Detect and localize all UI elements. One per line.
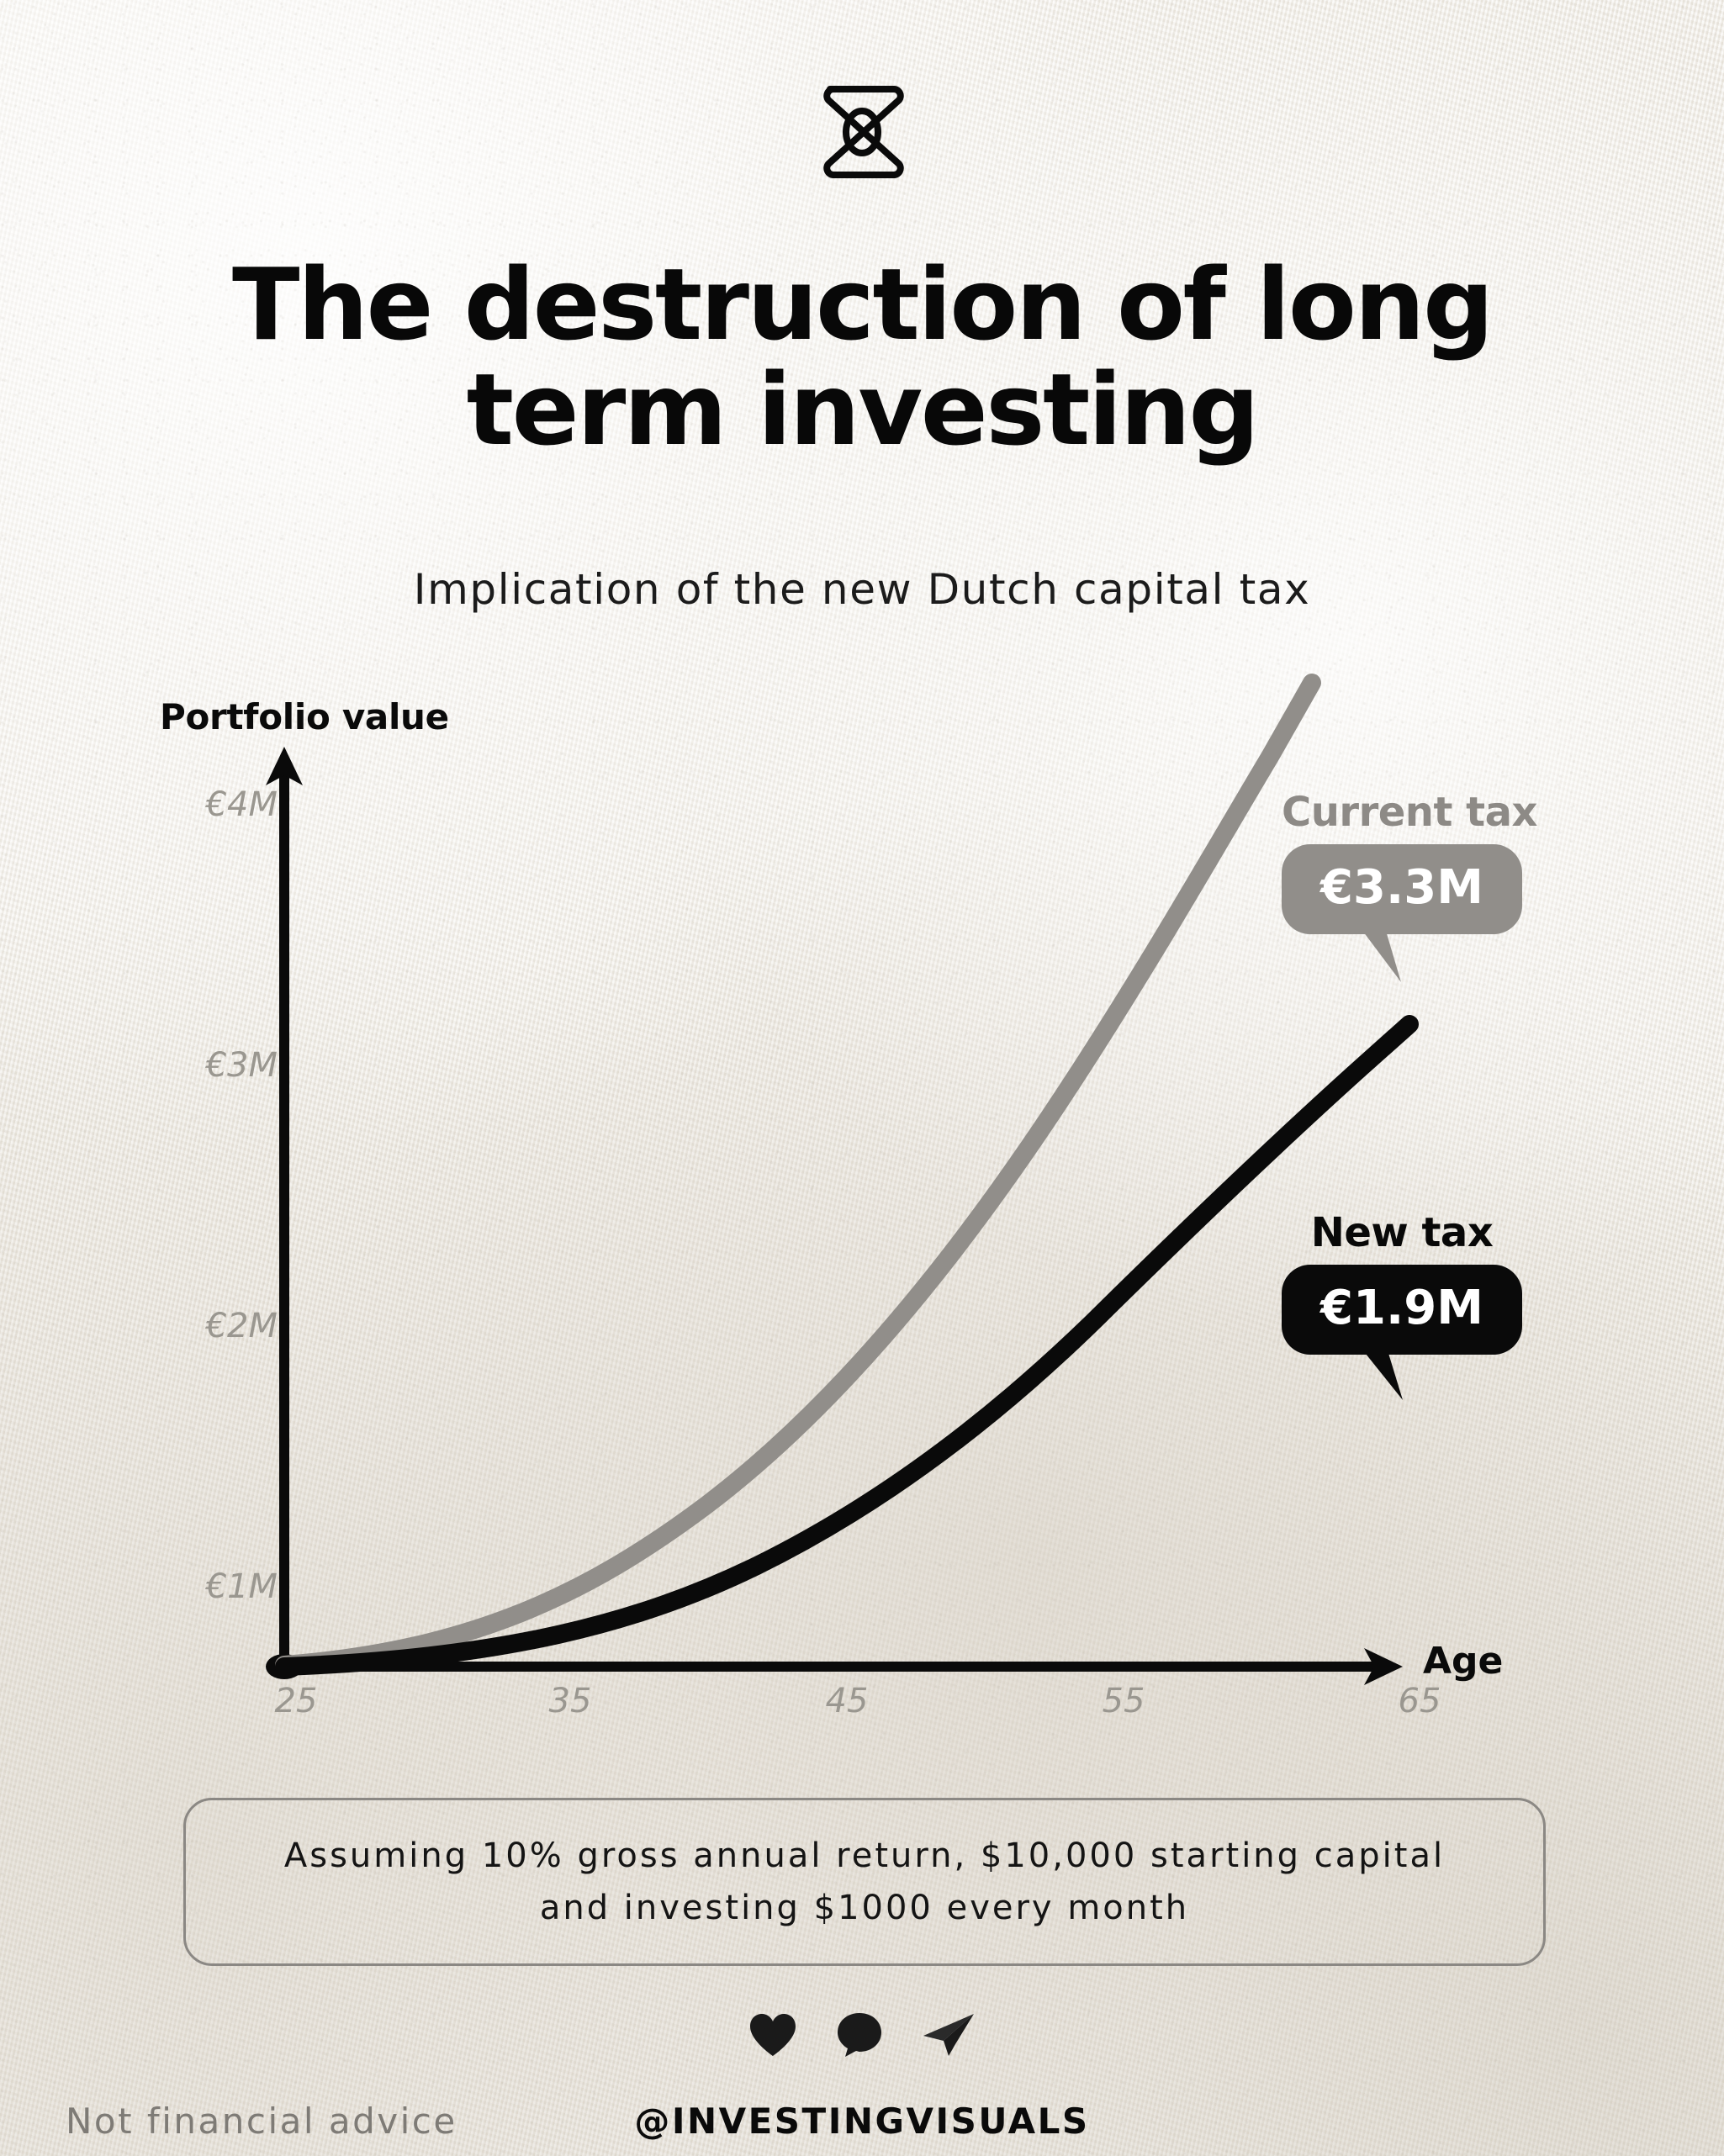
y-axis-tick-4m: €4M [206,785,278,824]
x-axis-tick-55: 55 [1103,1682,1145,1720]
value-badge-current-tax: €3.3M [1282,844,1522,934]
paper-plane-icon[interactable] [922,2012,976,2058]
x-axis-tick-65: 65 [1399,1682,1441,1720]
brand-logo [0,77,1724,187]
page-title: The destruction of long term investing [59,252,1665,462]
heart-icon[interactable] [748,2012,797,2058]
x-axis-tick-25: 25 [275,1682,318,1720]
disclaimer-text: Not financial advice [66,2101,457,2142]
callout-current-tax: Current tax €3.3M [1282,789,1522,934]
series-label-current-tax: Current tax [1282,789,1522,836]
value-badge-new-tax: €1.9M [1282,1265,1522,1355]
series-line-new-tax [284,1024,1409,1667]
assumptions-note: Assuming 10% gross annual return, $10,00… [183,1798,1546,1966]
page-subtitle: Implication of the new Dutch capital tax [59,565,1665,614]
series-line-current-tax [284,683,1312,1665]
x-axis-tick-35: 35 [549,1682,592,1720]
x-axis-tick-45: 45 [826,1682,869,1720]
callout-new-tax: New tax €1.9M [1282,1209,1522,1355]
chart-axes [266,747,1403,1685]
y-axis-label: Portfolio value [160,696,449,737]
social-action-icons [0,2011,1724,2058]
y-axis-tick-3m: €3M [206,1046,278,1085]
series-label-new-tax: New tax [1282,1209,1522,1256]
y-axis-tick-2m: €2M [206,1307,278,1345]
speech-bubble-icon[interactable] [836,2011,883,2058]
y-axis-tick-1m: €1M [206,1567,278,1606]
x-axis-label: Age [1423,1640,1503,1683]
hourglass-diamond-logo-icon [806,77,918,187]
infographic-poster: The destruction of long term investing I… [0,0,1724,2156]
